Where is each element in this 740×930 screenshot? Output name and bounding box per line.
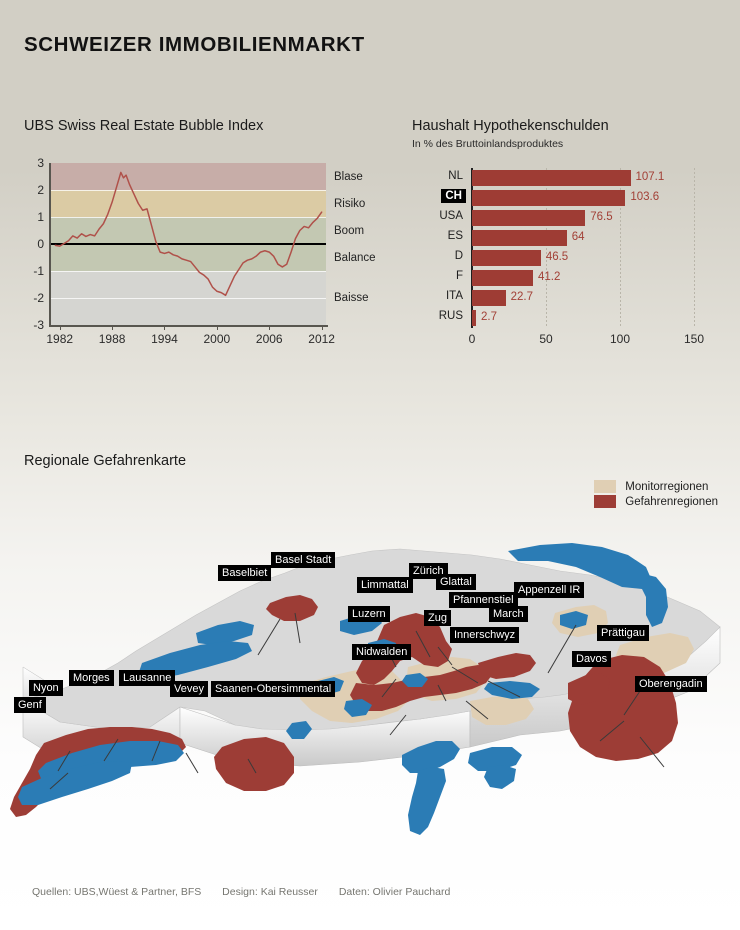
bar-row: RUS2.7 xyxy=(472,309,694,327)
bar-row: CH103.6 xyxy=(472,189,694,207)
bar-row: USA76.5 xyxy=(472,209,694,227)
map-label-innerschwyz[interactable]: Innerschwyz xyxy=(450,627,519,643)
map-canvas: Basel StadtBaselbietLimmattalZürichGlatt… xyxy=(0,515,740,845)
bar-gridline xyxy=(694,168,695,328)
y-axis-tick: 3 xyxy=(37,156,44,170)
x-axis-tick: 2000 xyxy=(204,332,231,346)
x-axis-tick: 1988 xyxy=(99,332,126,346)
bar-value-label: 22.7 xyxy=(511,291,533,303)
bar-fill xyxy=(472,250,541,266)
map-label-baselbiet[interactable]: Baselbiet xyxy=(218,565,271,581)
band-label-baisse: Baisse xyxy=(334,292,369,304)
bubble-index-chart: UBS Swiss Real Estate Bubble Index 3210-… xyxy=(24,118,384,348)
bar-fill xyxy=(472,210,585,226)
bar-category-es: ES xyxy=(448,230,463,242)
page-title: SCHWEIZER IMMOBILIENMARKT xyxy=(24,33,365,57)
map-label-luzern[interactable]: Luzern xyxy=(348,606,390,622)
bar-value-label: 2.7 xyxy=(481,311,497,323)
bar-category-usa: USA xyxy=(439,210,463,222)
bar-x-tick: 0 xyxy=(469,332,476,346)
danger-map-section: Regionale Gefahrenkarte Monitorregionen … xyxy=(0,440,740,870)
bar-category-rus: RUS xyxy=(439,310,463,322)
band-label-blase: Blase xyxy=(334,171,363,183)
y-axis-tick: -2 xyxy=(33,291,44,305)
bubble-index-title: UBS Swiss Real Estate Bubble Index xyxy=(24,118,263,134)
bar-fill xyxy=(472,270,533,286)
x-axis xyxy=(49,325,328,327)
x-tick-mark xyxy=(322,325,323,330)
map-label-saanen-obersimmental[interactable]: Saanen-Obersimmental xyxy=(211,681,335,697)
bar-row: F41.2 xyxy=(472,269,694,287)
legend-label-monitor: Monitorregionen xyxy=(625,481,708,493)
map-label-march[interactable]: March xyxy=(489,606,528,622)
bar-value-label: 76.5 xyxy=(590,211,612,223)
bar-x-tick: 150 xyxy=(684,332,704,346)
band-label-boom: Boom xyxy=(334,225,364,237)
map-label-vevey[interactable]: Vevey xyxy=(170,681,208,697)
bar-fill xyxy=(472,190,625,206)
map-label-davos[interactable]: Davos xyxy=(572,651,611,667)
band-label-balance: Balance xyxy=(334,252,376,264)
mortgage-debt-chart: Haushalt Hypothekenschulden In % des Bru… xyxy=(412,118,727,348)
y-axis-tick: 2 xyxy=(37,183,44,197)
map-label-morges[interactable]: Morges xyxy=(69,670,114,686)
x-axis-tick: 1994 xyxy=(151,332,178,346)
map-label-oberengadin[interactable]: Oberengadin xyxy=(635,676,707,692)
map-label-prttigau[interactable]: Prättigau xyxy=(597,625,649,641)
bar-fill xyxy=(472,170,631,186)
legend-swatch-danger xyxy=(594,495,616,508)
bar-value-label: 64 xyxy=(572,231,585,243)
legend-label-danger: Gefahrenregionen xyxy=(625,496,718,508)
bubble-index-line xyxy=(51,163,326,325)
bar-fill xyxy=(472,230,567,246)
band-label-risiko: Risiko xyxy=(334,198,365,210)
bar-fill xyxy=(472,290,506,306)
infographic-page: SCHWEIZER IMMOBILIENMARKT UBS Swiss Real… xyxy=(0,0,740,930)
bubble-index-plot: 3210-1-2-3 198219881994200020062012 Blas… xyxy=(51,163,326,325)
x-axis-tick: 2006 xyxy=(256,332,283,346)
map-title: Regionale Gefahrenkarte xyxy=(24,453,186,469)
bar-category-d: D xyxy=(455,250,463,262)
map-label-limmattal[interactable]: Limmattal xyxy=(357,577,413,593)
bar-value-label: 41.2 xyxy=(538,271,560,283)
legend-item-danger: Gefahrenregionen xyxy=(594,495,718,508)
bar-x-tick: 50 xyxy=(539,332,552,346)
footer-data: Daten: Olivier Pauchard xyxy=(339,886,450,898)
y-axis-tick: 0 xyxy=(37,237,44,251)
map-legend: Monitorregionen Gefahrenregionen xyxy=(594,480,718,510)
footer-design: Design: Kai Reusser xyxy=(222,886,318,898)
bar-row: NL107.1 xyxy=(472,169,694,187)
bar-x-tick: 100 xyxy=(610,332,630,346)
bar-value-label: 107.1 xyxy=(636,171,665,183)
bar-row: ES64 xyxy=(472,229,694,247)
bar-category-ch: CH xyxy=(441,189,466,203)
legend-swatch-monitor xyxy=(594,480,616,493)
y-axis-tick: -1 xyxy=(33,264,44,278)
bar-row: D46.5 xyxy=(472,249,694,267)
bar-row: ITA22.7 xyxy=(472,289,694,307)
mortgage-subtitle: In % des Bruttoinlandsproduktes xyxy=(412,138,563,150)
footer-credits: Quellen: UBS,Wüest & Partner, BFS Design… xyxy=(32,886,468,898)
bar-category-ita: ITA xyxy=(446,290,463,302)
x-tick-mark xyxy=(269,325,270,330)
x-tick-mark xyxy=(60,325,61,330)
map-label-nyon[interactable]: Nyon xyxy=(29,680,63,696)
legend-item-monitor: Monitorregionen xyxy=(594,480,718,493)
y-axis-tick: 1 xyxy=(37,210,44,224)
map-label-nidwalden[interactable]: Nidwalden xyxy=(352,644,411,660)
map-label-appenzell-ir[interactable]: Appenzell IR xyxy=(514,582,584,598)
x-tick-mark xyxy=(217,325,218,330)
bar-value-label: 46.5 xyxy=(546,251,568,263)
x-tick-mark xyxy=(112,325,113,330)
footer-sources: Quellen: UBS,Wüest & Partner, BFS xyxy=(32,886,201,898)
map-label-basel-stadt[interactable]: Basel Stadt xyxy=(271,552,335,568)
map-label-zug[interactable]: Zug xyxy=(424,610,451,626)
bar-value-label: 103.6 xyxy=(630,191,659,203)
y-axis-tick: -3 xyxy=(33,318,44,332)
bar-category-nl: NL xyxy=(448,170,463,182)
map-label-glattal[interactable]: Glattal xyxy=(436,574,476,590)
x-axis-tick: 1982 xyxy=(46,332,73,346)
bar-fill xyxy=(472,310,476,326)
bar-plot-area: NL107.1CH103.6USA76.5ES64D46.5F41.2ITA22… xyxy=(472,168,694,328)
map-label-genf[interactable]: Genf xyxy=(14,697,46,713)
map-label-lausanne[interactable]: Lausanne xyxy=(119,670,175,686)
bar-category-f: F xyxy=(456,270,463,282)
mortgage-title: Haushalt Hypothekenschulden xyxy=(412,118,609,134)
x-axis-tick: 2012 xyxy=(308,332,335,346)
x-tick-mark xyxy=(164,325,165,330)
